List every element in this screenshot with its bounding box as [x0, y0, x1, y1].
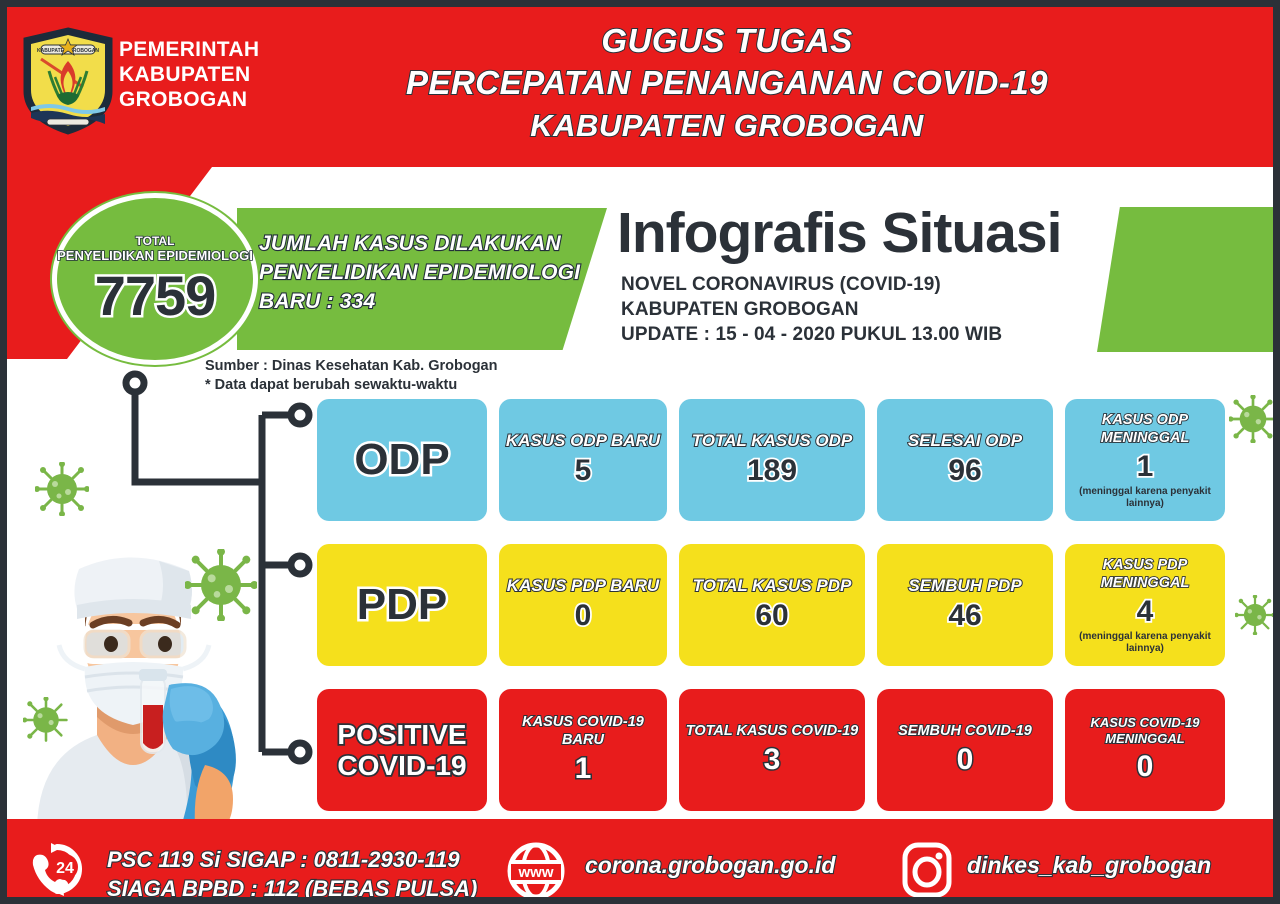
stat-card-title: TOTAL KASUS ODP: [692, 431, 853, 451]
stat-card-odp-meninggal: KASUS ODP MENINGGAL 1 (meninggal karena …: [1065, 399, 1225, 521]
stat-card-title: KASUS PDP BARU: [507, 576, 659, 596]
infographic-poster: KABUPATEN GROBOGAN PEMERINTAH KABUPATEN …: [0, 0, 1280, 904]
info-sub-2: KABUPATEN GROBOGAN: [621, 297, 1002, 322]
total-penyelidikan-badge: TOTAL PENYELIDIKAN EPIDEMIOLOGI 7759: [52, 193, 258, 365]
green-line-3: BARU : 334: [259, 287, 599, 316]
poster-title: GUGUS TUGAS PERCEPATAN PENANGANAN COVID-…: [337, 21, 1117, 147]
stat-card-pdp-total: TOTAL KASUS PDP 60: [679, 544, 865, 666]
stat-card-covid-total: TOTAL KASUS COVID-19 3: [679, 689, 865, 811]
stat-card-pdp-baru: KASUS PDP BARU 0: [499, 544, 667, 666]
category-card-odp: ODP: [317, 399, 487, 521]
www-globe-icon: www: [505, 840, 567, 902]
stat-card-pdp-sembuh: SEMBUH PDP 46: [877, 544, 1053, 666]
stat-card-title: SELESAI ODP: [908, 431, 1022, 451]
phone-24h-icon: 24: [21, 841, 93, 899]
category-label: PDP: [357, 582, 447, 628]
stats-grid: ODP KASUS ODP BARU 5 TOTAL KASUS ODP 189…: [317, 399, 1225, 823]
stat-card-value: 5: [575, 453, 592, 489]
government-name: PEMERINTAH KABUPATEN GROBOGAN: [119, 37, 259, 112]
stat-card-value: 46: [948, 598, 981, 634]
green-line-1: JUMLAH KASUS DILAKUKAN: [259, 229, 599, 258]
stat-card-value: 0: [957, 742, 974, 778]
gov-line-1: PEMERINTAH: [119, 37, 259, 62]
title-line-1: GUGUS TUGAS: [337, 21, 1117, 61]
stat-card-value: 189: [747, 453, 797, 489]
category-card-pdp: PDP: [317, 544, 487, 666]
penyelidikan-epidemiologi-caption: JUMLAH KASUS DILAKUKAN PENYELIDIKAN EPID…: [259, 229, 599, 316]
gov-line-2: KABUPATEN: [119, 62, 259, 87]
instagram-icon[interactable]: [897, 839, 957, 901]
stat-card-value: 0: [575, 598, 592, 634]
virus-decoration-icon: [1229, 395, 1277, 448]
info-sub-3: UPDATE : 15 - 04 - 2020 PUKUL 13.00 WIB: [621, 322, 1002, 347]
stat-card-title: KASUS COVID-19 MENINGGAL: [1070, 715, 1220, 747]
virus-decoration-icon: [23, 697, 69, 748]
category-label: ODP: [354, 437, 449, 483]
svg-text:24: 24: [56, 860, 74, 877]
gov-line-3: GROBOGAN: [119, 87, 259, 112]
footer-website[interactable]: corona.grobogan.go.id: [585, 852, 835, 879]
footer-phone-numbers: PSC 119 Si SIGAP : 0811-2930-119 SIAGA B…: [107, 845, 477, 903]
stat-card-title: KASUS COVID-19 BARU: [504, 713, 662, 749]
stat-card-note: (meninggal karena penyakit lainnya): [1070, 631, 1220, 655]
stat-card-odp-total: TOTAL KASUS ODP 189: [679, 399, 865, 521]
stat-card-covid-baru: KASUS COVID-19 BARU 1: [499, 689, 667, 811]
virus-decoration-icon: [185, 549, 257, 626]
stat-card-title: SEMBUH PDP: [908, 576, 1021, 596]
stat-card-title: KASUS ODP BARU: [506, 431, 660, 451]
category-card-positive: POSITIVE COVID-19: [317, 689, 487, 811]
stat-card-pdp-meninggal: KASUS PDP MENINGGAL 4 (meninggal karena …: [1065, 544, 1225, 666]
stat-card-covid-meninggal: KASUS COVID-19 MENINGGAL 0: [1065, 689, 1225, 811]
stat-card-value: 0: [1137, 749, 1154, 785]
stat-card-value: 1: [1137, 449, 1154, 485]
stat-card-value: 96: [948, 453, 981, 489]
footer-phone-line-1: PSC 119 Si SIGAP : 0811-2930-119: [107, 845, 477, 874]
stats-row-odp: ODP KASUS ODP BARU 5 TOTAL KASUS ODP 189…: [317, 399, 1225, 521]
category-label-line-2: COVID-19: [337, 750, 466, 781]
total-badge-value: 7759: [95, 267, 216, 325]
stat-card-odp-selesai: SELESAI ODP 96: [877, 399, 1053, 521]
stat-card-title: KASUS PDP MENINGGAL: [1070, 556, 1220, 592]
total-badge-caption-1: TOTAL: [136, 234, 175, 248]
stat-card-value: 60: [755, 598, 788, 634]
stats-row-pdp: PDP KASUS PDP BARU 0 TOTAL KASUS PDP 60 …: [317, 544, 1225, 666]
grobogan-coat-of-arms-icon: KABUPATEN GROBOGAN: [19, 25, 117, 137]
stat-card-value: 1: [575, 751, 592, 787]
title-line-2: PERCEPATAN PENANGANAN COVID-19: [337, 61, 1117, 105]
stat-card-title: TOTAL KASUS PDP: [693, 576, 852, 596]
stat-card-title: KASUS ODP MENINGGAL: [1070, 411, 1220, 447]
stat-card-title: TOTAL KASUS COVID-19: [686, 722, 858, 740]
virus-decoration-icon: [1235, 595, 1275, 640]
green-right-shape: [1097, 207, 1273, 352]
title-line-3: KABUPATEN GROBOGAN: [337, 105, 1117, 147]
svg-text:www: www: [517, 864, 553, 881]
stat-card-value: 4: [1137, 594, 1154, 630]
category-label-line-1: POSITIVE: [337, 719, 466, 750]
total-badge-caption-2: PENYELIDIKAN EPIDEMIOLOGI: [57, 248, 253, 263]
infografis-heading: Infografis Situasi: [617, 203, 1061, 263]
footer-phone-line-2: SIAGA BPBD : 112 (BEBAS PULSA): [107, 874, 477, 903]
stat-card-covid-sembuh: SEMBUH COVID-19 0: [877, 689, 1053, 811]
stat-card-note: (meninggal karena penyakit lainnya): [1070, 486, 1220, 510]
stat-card-value: 3: [764, 742, 781, 778]
stats-row-positive: POSITIVE COVID-19 KASUS COVID-19 BARU 1 …: [317, 689, 1225, 811]
footer-instagram-handle[interactable]: dinkes_kab_grobogan: [967, 852, 1211, 879]
stat-card-odp-baru: KASUS ODP BARU 5: [499, 399, 667, 521]
green-line-2: PENYELIDIKAN EPIDEMIOLOGI: [259, 258, 599, 287]
stat-card-title: SEMBUH COVID-19: [898, 722, 1032, 740]
virus-decoration-icon: [35, 462, 89, 521]
info-sub-1: NOVEL CORONAVIRUS (COVID-19): [621, 272, 1002, 297]
infografis-subheading: NOVEL CORONAVIRUS (COVID-19) KABUPATEN G…: [621, 272, 1002, 347]
